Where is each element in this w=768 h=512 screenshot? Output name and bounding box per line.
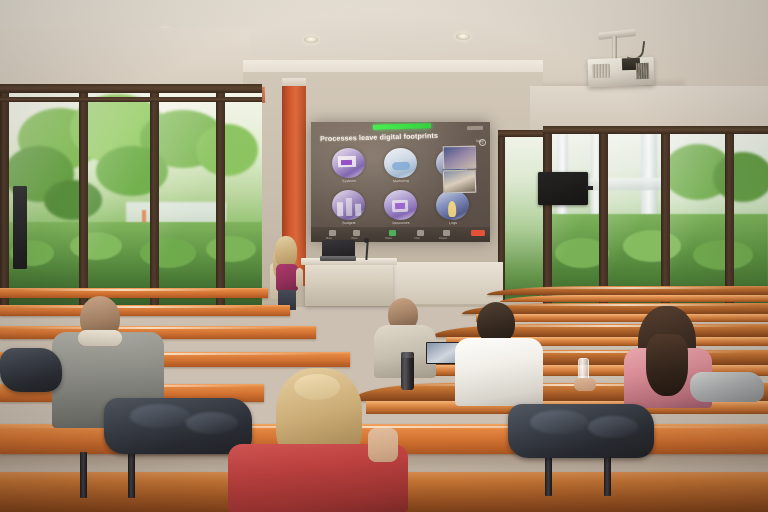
ceiling-spotlight-icon: [456, 33, 470, 40]
window-mullion: [661, 126, 670, 312]
mute-icon[interactable]: [329, 230, 336, 236]
presenter-top: [276, 264, 298, 291]
jacket-fold: [588, 416, 638, 438]
topic-label: Marketing: [377, 178, 425, 183]
student-hand: [574, 378, 596, 391]
topic-thumbnail: [384, 190, 418, 221]
student-torso: [455, 338, 543, 406]
wall-speaker: [13, 186, 27, 269]
projector-lens-icon: [592, 64, 610, 79]
ceiling-spotlight-icon: [304, 36, 318, 43]
wall-mounted-monitor: [538, 172, 588, 205]
hedge-texture: [70, 232, 122, 260]
topic-thumbnail: [436, 190, 470, 221]
thermos-cap: [401, 352, 414, 358]
window-mullion: [543, 126, 552, 312]
share-screen-icon[interactable]: [389, 230, 396, 236]
desk-leg: [604, 452, 611, 496]
projection-screen: Processes leave digital footprints logo …: [311, 122, 490, 242]
chat-label: Chat: [414, 237, 419, 240]
topic-label: Logs: [429, 220, 477, 225]
desk-leg: [128, 452, 135, 498]
desk-highlight: [20, 289, 230, 291]
student-hair-highlight: [294, 374, 340, 400]
hedge-texture: [206, 236, 256, 262]
topic-thumbnail: [332, 190, 366, 221]
topic-thumbnail: [332, 148, 366, 179]
window-head-rail: [0, 84, 262, 93]
jacket-fold: [130, 404, 190, 428]
tree-foliage: [44, 180, 102, 220]
desk-highlight: [520, 287, 740, 289]
window-mullion: [79, 84, 88, 306]
video-participant-tile: [443, 146, 477, 170]
topic-label: Budgets: [325, 220, 373, 225]
topic-label: Resources: [377, 220, 425, 225]
share-label: Share: [385, 237, 392, 240]
right-window-wall: [543, 126, 768, 312]
slide-topic-item: Marketing: [377, 148, 425, 188]
audience-member-foreground: [228, 368, 408, 512]
slide-topic-item: Systems: [325, 148, 373, 188]
audience-member: [455, 302, 543, 406]
window-mullion: [216, 84, 225, 306]
desk-leg: [80, 452, 87, 498]
upper-left-wall: [0, 28, 250, 88]
draped-sweater-right: [690, 372, 764, 402]
people-icon[interactable]: [443, 230, 450, 236]
presenter-arm: [296, 268, 303, 288]
backpack: [0, 348, 62, 392]
left-window-wall: [0, 84, 262, 306]
student-collar: [78, 330, 122, 346]
monitor-mount-arm: [586, 186, 593, 190]
projector-vent-icon: [636, 63, 650, 79]
presenter: [271, 236, 305, 308]
window-mullion: [599, 126, 608, 312]
window-head-rail: [543, 126, 768, 134]
slide-topic-item: Budgets: [325, 190, 373, 230]
tree-foliage: [196, 124, 258, 176]
bench-row: [500, 295, 768, 302]
video-icon[interactable]: [353, 230, 360, 236]
student-ponytail: [646, 334, 688, 396]
window-mullion: [0, 84, 9, 306]
topic-thumbnail: [384, 148, 418, 179]
topic-label: Systems: [325, 178, 373, 183]
tree-foliage: [713, 152, 768, 202]
lectern-laptop-keyboard: [320, 256, 356, 261]
window-mullion: [150, 84, 159, 306]
people-label: People: [439, 237, 447, 240]
jacket-fold: [530, 410, 588, 434]
slide-topic-item: Resources: [377, 190, 425, 230]
window-transom: [0, 97, 262, 102]
lectern-microphone-icon: [364, 238, 369, 243]
hedge-texture: [140, 238, 196, 268]
hedge-texture: [693, 240, 753, 270]
video-participant-tile: [443, 170, 477, 194]
desk-leg: [545, 452, 552, 496]
student-arm: [368, 428, 398, 462]
lecture-hall-photo: Processes leave digital footprints logo …: [0, 0, 768, 512]
participant-count-badge: 2: [479, 139, 486, 146]
leave-meeting-button[interactable]: [471, 230, 485, 236]
lectern-laptop-screen: [322, 240, 355, 257]
hedge-texture: [623, 230, 681, 262]
slide-topic-item: Logs: [429, 190, 477, 230]
chat-icon[interactable]: [417, 230, 424, 236]
window-mullion: [725, 126, 734, 312]
